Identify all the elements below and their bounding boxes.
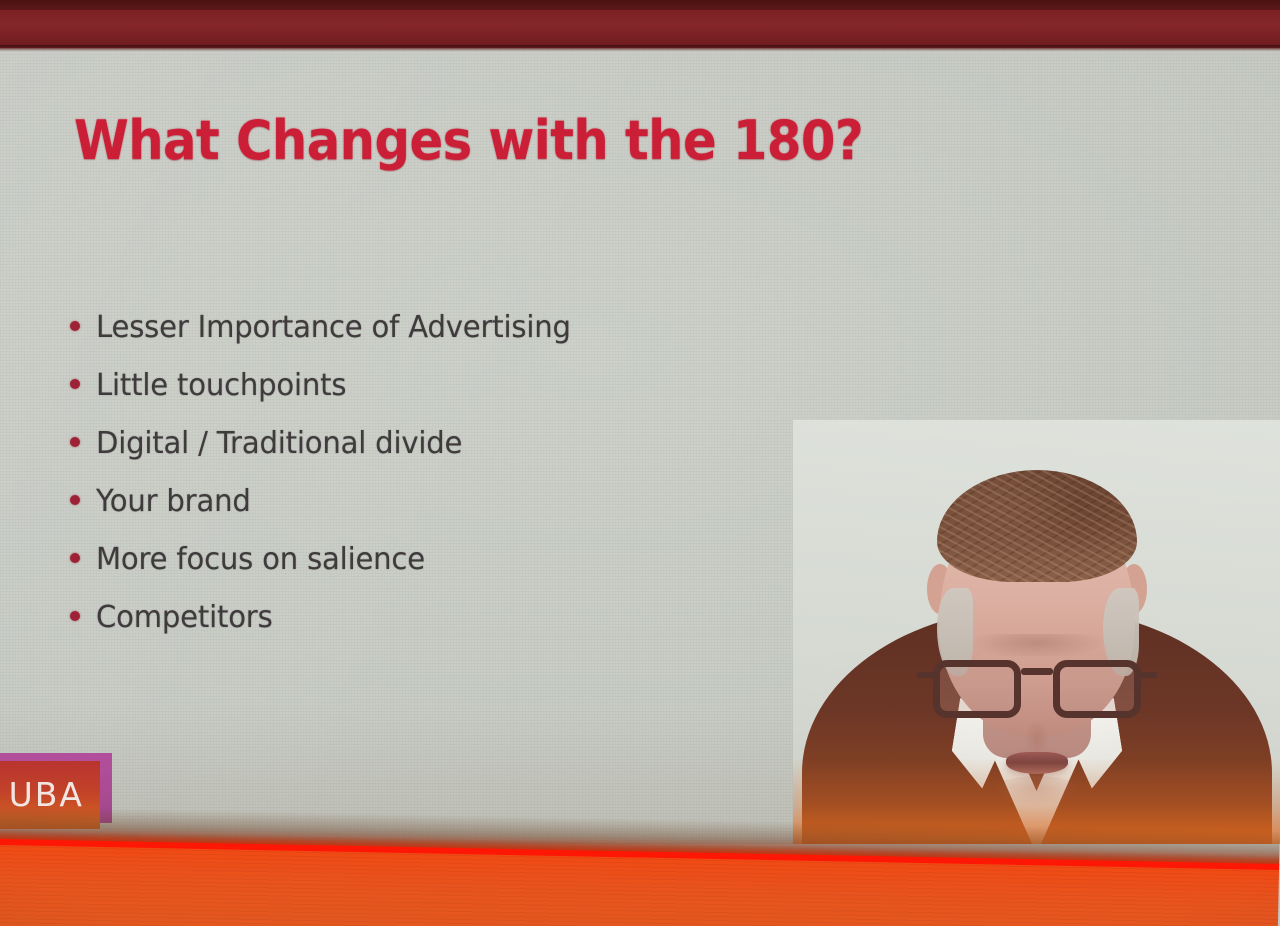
- bullet-dot-icon: [70, 379, 80, 389]
- glasses-arm-right: [1141, 672, 1157, 678]
- projection-top-edge: [0, 0, 1280, 10]
- bullet-text: Little touchpoints: [96, 371, 346, 401]
- bullet-text: Competitors: [96, 603, 273, 633]
- bullet-text: Your brand: [96, 487, 251, 517]
- presentation-slide: What Changes with the 180? Lesser Import…: [0, 51, 1280, 844]
- glasses-lens-left: [933, 660, 1021, 718]
- slide-title: What Changes with the 180?: [74, 113, 863, 170]
- bullet-text: Digital / Traditional divide: [96, 429, 462, 459]
- screenshot-root: What Changes with the 180? Lesser Import…: [0, 0, 1280, 926]
- mouth: [1006, 752, 1068, 774]
- glasses-lens-right: [1053, 660, 1141, 718]
- bullet-dot-icon: [70, 321, 80, 331]
- bullet-dot-icon: [70, 611, 80, 621]
- glasses-bridge: [1021, 668, 1053, 675]
- bullet-dot-icon: [70, 437, 80, 447]
- list-item: Your brand: [70, 487, 585, 545]
- slide-bullet-list: Lesser Importance of Advertising Little …: [70, 313, 585, 661]
- presenter-video-tile: [793, 420, 1280, 844]
- list-item: Competitors: [70, 603, 585, 661]
- glasses-arm-left: [917, 672, 933, 678]
- hair: [937, 470, 1137, 582]
- projection-top-band: [0, 8, 1280, 47]
- presenter-portrait: [793, 420, 1280, 844]
- bullet-text: Lesser Importance of Advertising: [96, 313, 571, 343]
- list-item: More focus on salience: [70, 545, 585, 603]
- chin: [989, 776, 1085, 810]
- list-item: Lesser Importance of Advertising: [70, 313, 585, 371]
- list-item: Digital / Traditional divide: [70, 429, 585, 487]
- brow-shadow: [962, 634, 1112, 656]
- bullet-dot-icon: [70, 495, 80, 505]
- bullet-dot-icon: [70, 553, 80, 563]
- list-item: Little touchpoints: [70, 371, 585, 429]
- bullet-text: More focus on salience: [96, 545, 425, 575]
- glasses-icon: [931, 660, 1143, 720]
